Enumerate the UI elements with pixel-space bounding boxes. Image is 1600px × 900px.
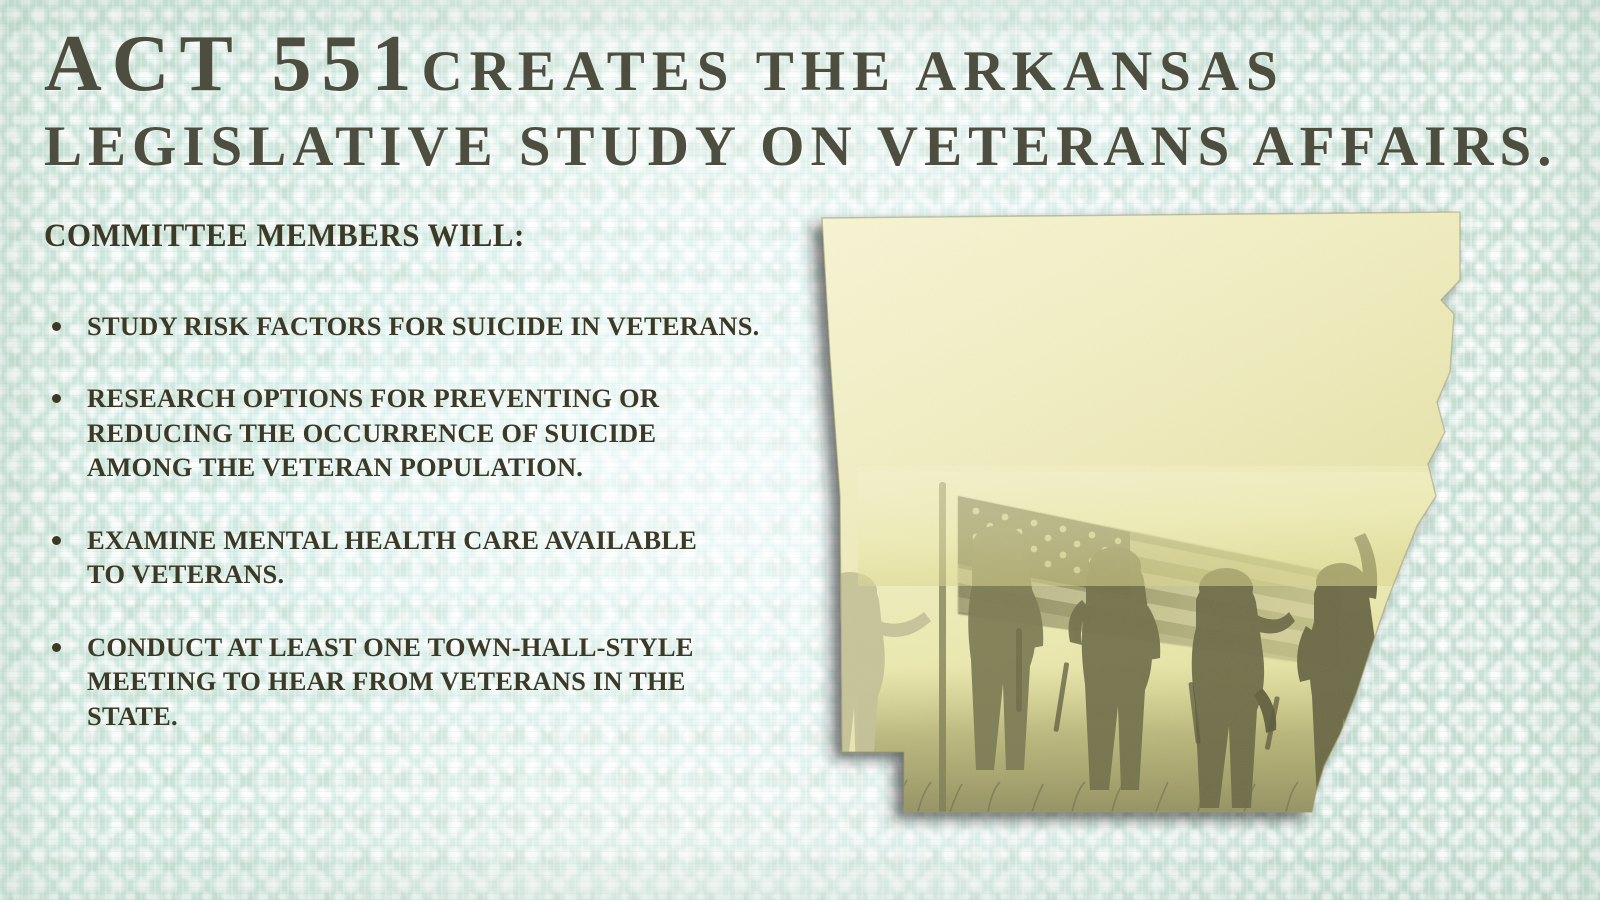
headline-block: ACT 551CREATES THE ARKANSAS LEGISLATIVE … [0,26,1492,175]
headline-line-2-text: LEGISLATIVE STUDY ON VETERANS AFFAIRS. [44,115,1557,178]
headline-line-1: ACT 551CREATES THE ARKANSAS [44,26,1492,103]
list-item: RESEARCH OPTIONS FOR PREVENTING OR REDUC… [44,381,784,484]
bullet-dot-icon [52,322,61,331]
bullet-dot-icon [52,394,61,403]
list-item: EXAMINE MENTAL HEALTH CARE AVAILABLE TO … [44,523,784,592]
poster-canvas: ACT 551CREATES THE ARKANSAS LEGISLATIVE … [0,0,1600,900]
bullet-dot-icon [52,536,61,545]
headline-line-1-rest: CREATES THE ARKANSAS [421,40,1284,103]
arkansas-map-graphic [800,196,1490,836]
committee-lede: COMMITTEE MEMBERS WILL: [44,218,740,255]
list-item-text: STUDY RISK FACTORS FOR SUICIDE IN VETERA… [87,311,759,341]
list-item-text: CONDUCT AT LEAST ONE TOWN-HALL-STYLE MEE… [87,632,694,731]
map-grain-overlay [800,196,1490,836]
list-item: STUDY RISK FACTORS FOR SUICIDE IN VETERA… [44,309,784,343]
list-item: CONDUCT AT LEAST ONE TOWN-HALL-STYLE MEE… [44,630,784,733]
list-item-text: EXAMINE MENTAL HEALTH CARE AVAILABLE TO … [87,525,697,589]
committee-duties-list: STUDY RISK FACTORS FOR SUICIDE IN VETERA… [44,309,784,733]
headline-act-number: ACT 551 [44,20,421,108]
headline-line-2: LEGISLATIVE STUDY ON VETERANS AFFAIRS. [44,117,1492,176]
bullet-dot-icon [52,643,61,652]
body-copy-block: COMMITTEE MEMBERS WILL: STUDY RISK FACTO… [44,218,784,733]
list-item-text: RESEARCH OPTIONS FOR PREVENTING OR REDUC… [87,383,659,482]
